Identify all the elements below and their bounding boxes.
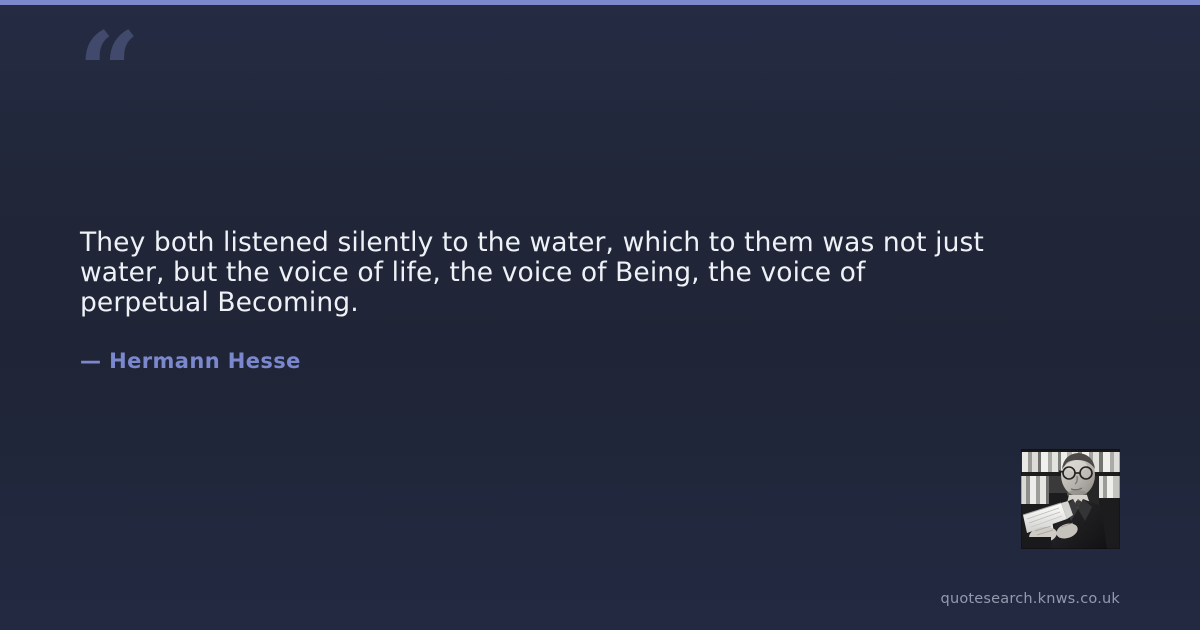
- opening-quote-icon: “: [78, 18, 138, 126]
- quote-text: They both listened silently to the water…: [80, 228, 990, 318]
- top-accent-bar: [0, 0, 1200, 5]
- quote-content: They both listened silently to the water…: [80, 228, 1020, 374]
- portrait-photo-icon: [1021, 449, 1120, 549]
- source-url: quotesearch.knws.co.uk: [941, 590, 1120, 608]
- author-portrait: [1021, 449, 1120, 549]
- quote-card: “ They both listened silently to the wat…: [0, 0, 1200, 630]
- quote-author: — Hermann Hesse: [80, 318, 1020, 374]
